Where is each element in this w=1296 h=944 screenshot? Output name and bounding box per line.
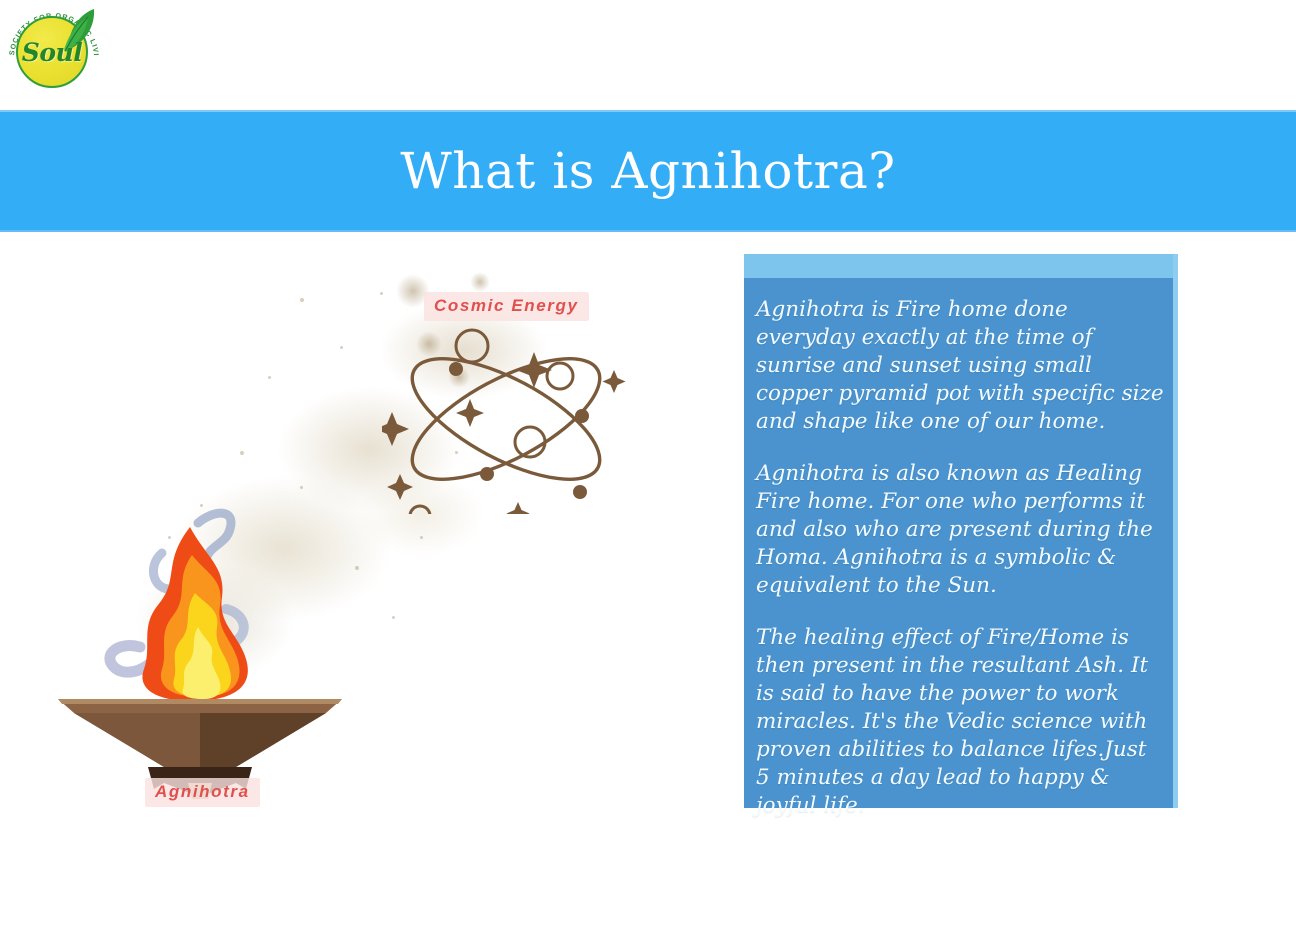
logo-graphic: SOCIETY FOR ORGANIC LIVING Soul [6,4,104,98]
smoke-speck [300,298,304,302]
panel-top-strip [744,254,1178,278]
panel-body: Agnihotra is Fire home done everyday exa… [744,278,1178,808]
panel-paragraph-1: Agnihotra is Fire home done everyday exa… [756,296,1164,436]
logo-wordmark: Soul [16,16,88,88]
page-title: What is Agnihotra? [400,146,895,196]
description-panel: Agnihotra is Fire home done everyday exa… [744,254,1178,808]
smoke-speck [340,346,343,349]
smoke-speck [420,536,423,539]
smoke-speck [240,451,244,455]
smoke-speck [392,616,395,619]
smoke-speck [300,486,303,489]
label-cosmic-energy: Cosmic Energy [424,292,589,321]
label-agnihotra: Agnihotra [145,778,260,807]
smoke-burst [470,272,490,292]
slide-canvas: SOCIETY FOR ORGANIC LIVING Soul What is … [0,0,1296,944]
atom-orbit-icon [382,324,630,514]
smoke-speck [380,292,383,295]
title-banner: What is Agnihotra? [0,110,1296,232]
illustration-area: Cosmic Energy Agnihotra [0,236,720,836]
fire-pot-graphic [40,501,360,801]
panel-paragraph-3: The healing effect of Fire/Home is then … [756,624,1164,820]
smoke-speck [268,376,271,379]
panel-paragraph-2: Agnihotra is also known as Healing Fire … [756,460,1164,600]
brand-logo[interactable]: SOCIETY FOR ORGANIC LIVING Soul [0,0,300,108]
